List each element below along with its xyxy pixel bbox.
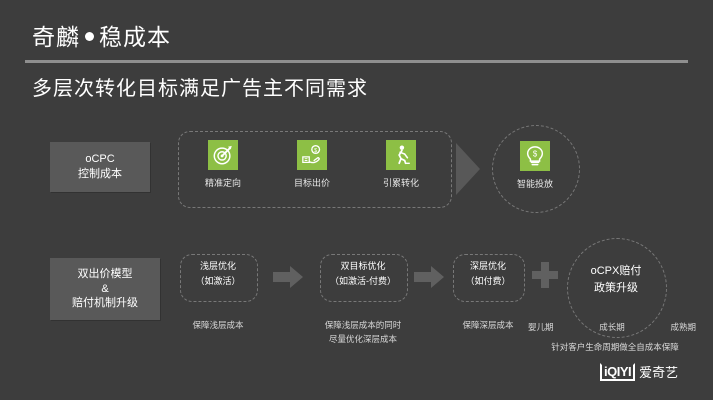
running-person-icon	[386, 140, 416, 170]
row2-step-note-1: （如激活-付费）	[320, 274, 406, 289]
right-arrow-icon-0	[273, 266, 303, 288]
row2-step-caption-1-line2: 尽量优化深层成本	[298, 332, 428, 346]
hand-coin-icon: $	[297, 140, 327, 170]
row1-tile-label-2: 引累转化	[361, 176, 441, 189]
row2-step-title-0: 浅层优化	[180, 259, 256, 274]
row2-step-caption-0-line1: 保障浅层成本	[178, 318, 258, 332]
page-title-main: 奇麟	[32, 24, 80, 50]
lifecycle-label-2: 成熟期	[670, 321, 696, 333]
page-title: 奇麟稳成本	[32, 18, 171, 52]
row1-tile-label-1: 目标出价	[272, 176, 352, 189]
row1-result-label: 智能投放	[495, 177, 575, 190]
row2-step-note-2: （如付费）	[453, 274, 523, 289]
row2-step-title-1: 双目标优化	[320, 259, 406, 274]
row2-label-line1: 双出价模型	[78, 267, 133, 282]
row2-step-title-2: 深层优化	[453, 259, 523, 274]
row2-step-caption-2-line1: 保障深层成本	[448, 318, 528, 332]
row1-tile-label-0: 精准定向	[183, 176, 263, 189]
row2-label-line3: 赔付机制升级	[72, 296, 138, 311]
page-title-sub: 稳成本	[99, 24, 171, 50]
row2-step-caption-0: 保障浅层成本	[178, 318, 258, 332]
svg-text:$: $	[314, 148, 317, 154]
right-arrow-icon-1	[414, 266, 444, 288]
row2-step-0: 浅层优化 （如激活）	[180, 259, 256, 290]
plus-icon	[532, 262, 558, 288]
iqiyi-logo-cn: 爱奇艺	[639, 362, 678, 381]
bullet-dot-icon	[85, 32, 94, 41]
target-icon	[208, 140, 238, 170]
row2-step-caption-1-line1: 保障浅层成本的同时	[298, 318, 428, 332]
row2-result-line1: oCPX赔付	[567, 263, 665, 280]
lightbulb-coin-icon: $	[520, 141, 550, 171]
row1-label-line2: 控制成本	[78, 167, 122, 182]
row2-step-2: 深层优化 （如付费）	[453, 259, 523, 290]
lifecycle-labels: 婴儿期 成长期 成熟期	[528, 321, 696, 333]
iqiyi-logo: iQIYI 爱奇艺	[600, 362, 678, 381]
triangle-arrow-icon	[456, 143, 480, 195]
row2-step-note-0: （如激活）	[180, 274, 256, 289]
row2-result-text: oCPX赔付 政策升级	[567, 263, 665, 296]
row2-step-caption-1: 保障浅层成本的同时 尽量优化深层成本	[298, 318, 428, 347]
row1-label-line1: oCPC	[85, 152, 114, 167]
lifecycle-label-0: 婴儿期	[528, 321, 554, 333]
svg-text:$: $	[533, 149, 538, 158]
row2-result-line2: 政策升级	[567, 280, 665, 297]
header-divider	[25, 60, 688, 63]
lifecycle-label-1: 成长期	[599, 321, 625, 333]
row1-label-box: oCPC 控制成本	[50, 142, 150, 192]
row2-result-caption: 针对客户生命周期做全自成本保障	[520, 340, 710, 354]
iqiyi-logo-mark: iQIYI	[600, 363, 635, 381]
slide-root: 奇麟稳成本 多层次转化目标满足广告主不同需求 oCPC 控制成本 精准定向 $ …	[0, 0, 713, 400]
row2-label-line2: &	[101, 282, 108, 297]
row2-label-box: 双出价模型 & 赔付机制升级	[50, 258, 160, 320]
row2-step-1: 双目标优化 （如激活-付费）	[320, 259, 406, 290]
row2-step-caption-2: 保障深层成本	[448, 318, 528, 332]
page-subtitle: 多层次转化目标满足广告主不同需求	[32, 72, 368, 101]
